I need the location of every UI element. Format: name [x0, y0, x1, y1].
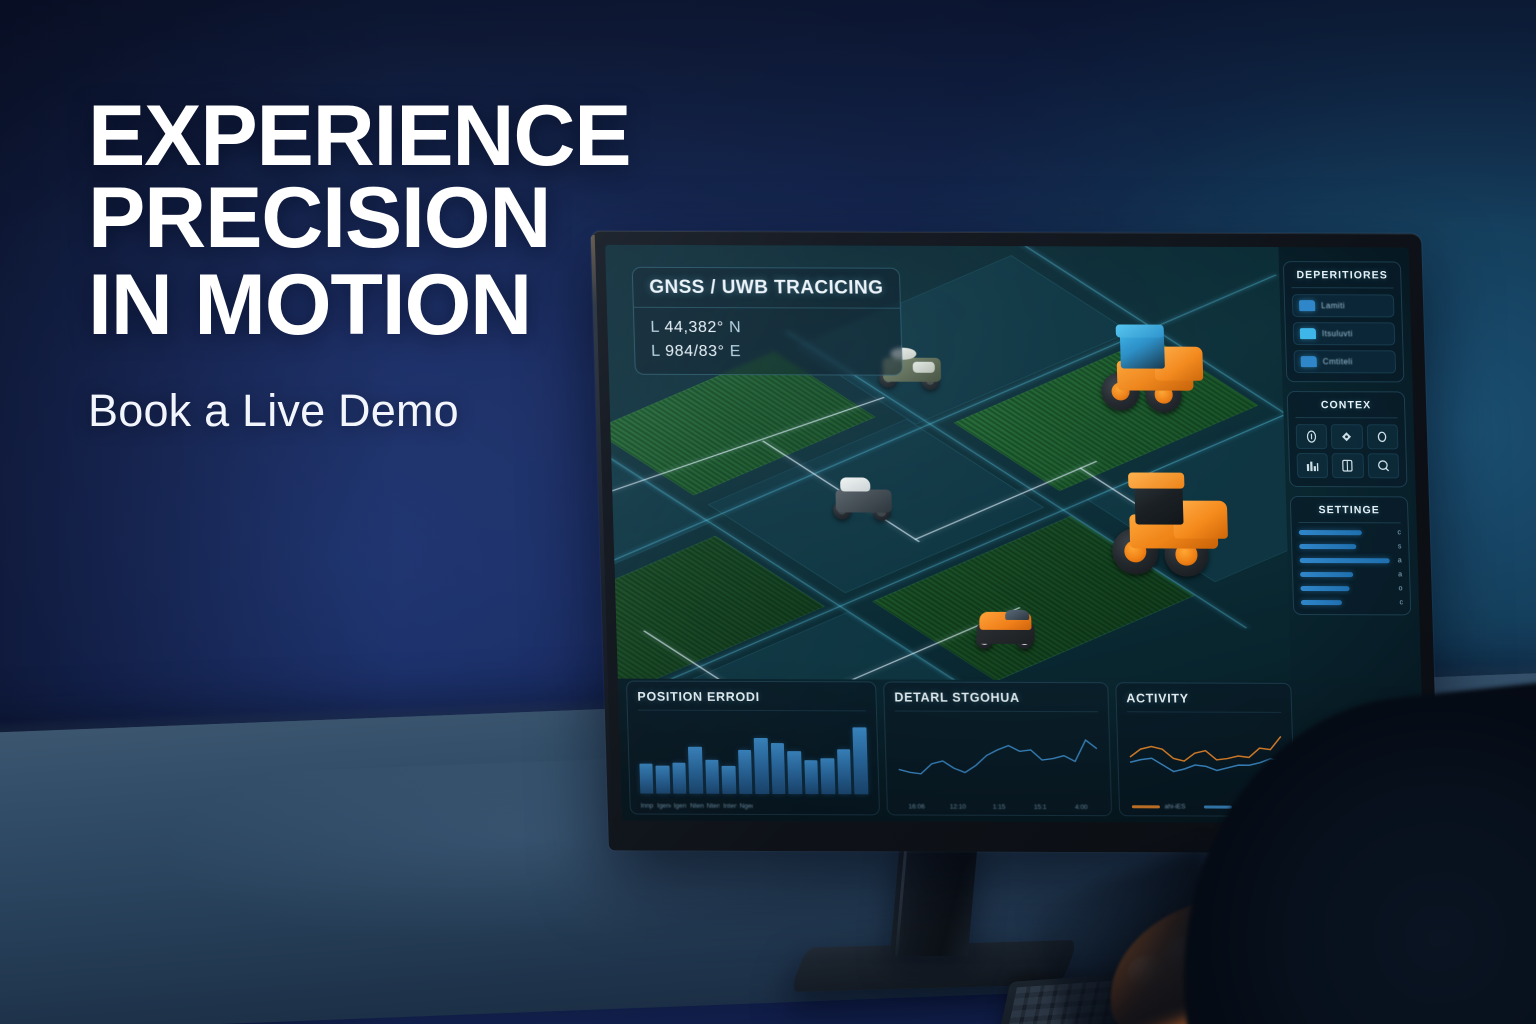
- bar: [738, 750, 753, 794]
- dashboard-strip: POSITION ERRODI InnpetIgendIgentNtendNte…: [626, 681, 1295, 817]
- device-list-item[interactable]: Itsuluvti: [1293, 322, 1396, 345]
- settings-row[interactable]: a: [1300, 557, 1402, 564]
- hero-text-block: EXPERIENCE PRECISION IN MOTION Book a Li…: [88, 96, 1098, 437]
- rover-body: [835, 489, 892, 512]
- bar-chart-icon[interactable]: [1296, 453, 1328, 478]
- bar-axis-label: [773, 803, 787, 810]
- bar: [705, 760, 719, 794]
- bar-series: [638, 716, 868, 795]
- position-error-card[interactable]: POSITION ERRODI InnpetIgendIgentNtendNte…: [626, 681, 880, 816]
- bar: [722, 766, 736, 794]
- tractor-cab-roof: [1128, 472, 1185, 488]
- bar: [656, 766, 670, 794]
- device-list-item[interactable]: Lamiti: [1292, 294, 1395, 317]
- position-error-chart: [638, 716, 868, 795]
- device-icon: [1300, 328, 1316, 339]
- legend-item: ahi-iES: [1131, 803, 1185, 810]
- bar-axis-label: Igent: [674, 803, 688, 810]
- detarl-stgohua-card[interactable]: DETARL STGOHUA 16:0612:101:1515:14:00: [883, 681, 1112, 816]
- settings-row[interactable]: c: [1301, 599, 1403, 606]
- map-vehicle-tractor-orange-cab[interactable]: [1110, 472, 1235, 580]
- bar-axis-label: [789, 803, 803, 810]
- device-label: Itsuluvti: [1322, 329, 1353, 338]
- monitor-stand-neck: [890, 838, 978, 956]
- settings-panel-title: SETTINGE: [1298, 504, 1401, 523]
- settings-row[interactable]: a: [1300, 571, 1402, 578]
- bar-axis-label: [838, 803, 852, 810]
- settings-slider[interactable]: [1301, 600, 1342, 605]
- bar-axis-label: Ntend: [707, 803, 721, 810]
- settings-row-tick: c: [1399, 599, 1403, 606]
- bar-axis-label: Nged: [740, 803, 754, 810]
- settings-slider[interactable]: [1300, 558, 1390, 563]
- line-axis-label: 12:10: [939, 804, 977, 811]
- rover-antenna-disc: [840, 477, 870, 491]
- line-axis-labels: 16:0612:101:1515:14:00: [898, 803, 1101, 811]
- headline-line-2: IN MOTION: [88, 265, 1098, 347]
- bar: [754, 738, 769, 794]
- bar-axis-label: Ntend: [690, 803, 704, 810]
- info-pin-icon[interactable]: [1296, 424, 1328, 449]
- hero-scene: EXPERIENCE PRECISION IN MOTION Book a Li…: [0, 0, 1536, 1024]
- rover-window: [1005, 610, 1029, 620]
- settings-row-tick: c: [1397, 529, 1401, 536]
- bar-axis-label: Igend: [657, 803, 671, 810]
- settings-row-tick: a: [1398, 557, 1402, 564]
- settings-row-tick: s: [1398, 543, 1402, 550]
- device-icon: [1299, 300, 1315, 311]
- settings-row[interactable]: o: [1300, 585, 1402, 592]
- bar: [787, 751, 802, 794]
- devices-panel[interactable]: DEPERITIORES Lamiti Itsuluvti Cmtiteli: [1283, 261, 1405, 382]
- map-vehicle-rover-grey[interactable]: [830, 473, 904, 527]
- bar: [639, 764, 653, 794]
- bar: [688, 747, 703, 794]
- bar-axis-label: [855, 803, 869, 810]
- context-panel[interactable]: CONTEX: [1287, 391, 1408, 487]
- headline-line-1: EXPERIENCE PRECISION: [88, 88, 630, 266]
- line-axis-label: 15:1: [1021, 804, 1059, 811]
- document-icon[interactable]: [1332, 453, 1364, 478]
- legend-swatch-orange: [1131, 806, 1159, 809]
- settings-row[interactable]: s: [1299, 543, 1401, 550]
- line-axis-label: 4:00: [1062, 804, 1100, 811]
- detarl-stgohua-title: DETARL STGOHUA: [894, 690, 1097, 712]
- bar-axis-labels: InnpetIgendIgentNtendNtendIntendNged: [641, 803, 869, 811]
- legend-swatch-blue: [1203, 806, 1231, 809]
- context-panel-title: CONTEX: [1295, 399, 1398, 418]
- bar: [672, 762, 686, 793]
- page-title: EXPERIENCE PRECISION IN MOTION: [88, 96, 1098, 347]
- bar: [771, 743, 786, 794]
- bar: [804, 760, 819, 794]
- bar-axis-label: Innpet: [641, 803, 655, 810]
- settings-slider[interactable]: [1299, 544, 1356, 549]
- devices-panel-title: DEPERITIORES: [1291, 269, 1394, 288]
- settings-slider[interactable]: [1299, 530, 1362, 535]
- device-icon: [1301, 356, 1317, 367]
- settings-row-tick: o: [1399, 585, 1403, 592]
- line-series: [898, 739, 1098, 774]
- tractor-cab-roof: [1116, 324, 1164, 337]
- device-label: Cmtiteli: [1323, 357, 1353, 366]
- activity-title: ACTIVITY: [1126, 691, 1281, 713]
- position-error-title: POSITION ERRODI: [637, 690, 866, 712]
- bar-axis-label: Intend: [723, 803, 737, 810]
- device-label: Lamiti: [1321, 301, 1345, 310]
- settings-panel[interactable]: SETTINGE c s a a: [1290, 496, 1412, 615]
- settings-row-tick: a: [1398, 571, 1402, 578]
- bar: [853, 727, 868, 794]
- bar-axis-label: [756, 803, 770, 810]
- bar-axis-label: [805, 803, 819, 810]
- hero-subheadline: Book a Live Demo: [88, 385, 1098, 437]
- bar: [821, 758, 836, 794]
- settings-slider[interactable]: [1300, 572, 1353, 577]
- context-icon-grid: [1296, 424, 1400, 478]
- settings-row[interactable]: c: [1299, 529, 1401, 536]
- map-vehicle-tractor-blue-cab[interactable]: [1100, 324, 1211, 420]
- line-series: [1129, 736, 1281, 762]
- map-vehicle-rover-orange[interactable]: [971, 604, 1043, 656]
- circle-marker-icon[interactable]: [1366, 424, 1398, 449]
- tag-icon[interactable]: [1331, 424, 1363, 449]
- settings-slider[interactable]: [1300, 586, 1349, 591]
- screen-right-rail: DEPERITIORES Lamiti Itsuluvti Cmtiteli: [1283, 261, 1413, 677]
- line-axis-label: 1:15: [980, 804, 1018, 811]
- device-list-item[interactable]: Cmtiteli: [1293, 350, 1396, 373]
- search-icon[interactable]: [1367, 453, 1399, 478]
- detarl-line-chart: [895, 716, 1100, 795]
- line-axis-label: 16:06: [898, 803, 936, 810]
- bar-axis-label: [822, 803, 836, 810]
- legend-label: ahi-iES: [1164, 803, 1185, 810]
- bar: [837, 749, 852, 794]
